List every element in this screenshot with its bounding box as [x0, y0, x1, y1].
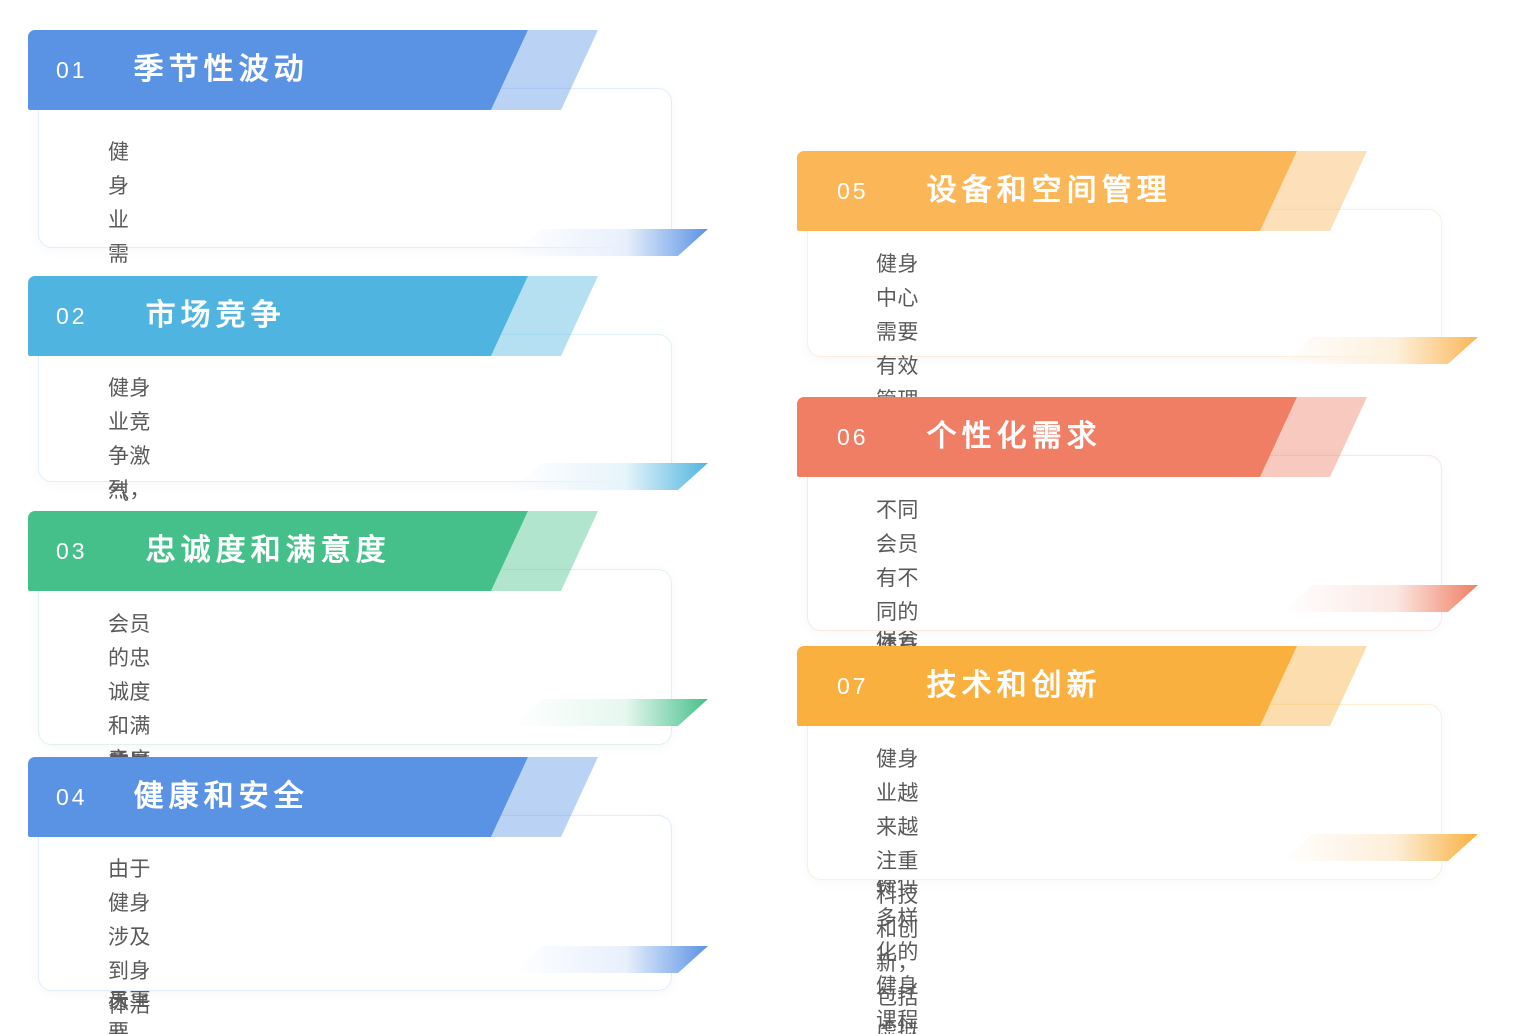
card-footer-decoration [1282, 585, 1478, 612]
card-header-text: 03忠诚度和满意度 [28, 511, 391, 591]
card-number: 01 [56, 59, 88, 82]
card-header-text: 06个性化需求 [797, 397, 1102, 477]
card-description: 健身业越来越注重科技和创新，包括虚拟健 身课程、智能健身设备等，以提升会员体验 … [876, 743, 919, 1034]
card-header-text: 05设备和空间管理 [797, 151, 1172, 231]
card-header-text: 02市场竞争 [28, 276, 286, 356]
card-title: 忠诚度和满意度 [146, 536, 391, 566]
card-number: 03 [56, 540, 88, 563]
card-body-panel [38, 88, 672, 248]
card-header-text: 04健康和安全 [28, 757, 309, 837]
card-footer-decoration [1282, 337, 1478, 364]
card-header-text: 01季节性波动 [28, 30, 309, 110]
card-description: 由于健身涉及到身体活动，健身中心需要关 注会员的健康和安全，提供安全有效的锻炼 … [108, 853, 151, 1034]
card-title: 技术和创新 [927, 671, 1102, 701]
card-footer-decoration [512, 463, 708, 490]
card-footer-decoration [512, 946, 708, 973]
card-footer-decoration [512, 699, 708, 726]
card-number: 05 [837, 180, 869, 203]
card-header-text: 07技术和创新 [797, 646, 1102, 726]
card-title: 市场竞争 [146, 301, 286, 331]
card-title: 设备和空间管理 [927, 176, 1172, 206]
card-number: 04 [56, 786, 88, 809]
card-footer-decoration [1282, 834, 1478, 861]
card-number: 06 [837, 426, 869, 449]
card-title: 个性化需求 [927, 422, 1102, 452]
card-title: 健康和安全 [134, 782, 309, 812]
card-number: 02 [56, 305, 88, 328]
card-footer-decoration [512, 229, 708, 256]
card-number: 07 [837, 675, 869, 698]
card-title: 季节性波动 [134, 55, 309, 85]
infographic-board: 01季节性波动健身业需根据季节和天气等因素调整运 营策略02市场竞争健身业竞争激… [0, 0, 1520, 1034]
